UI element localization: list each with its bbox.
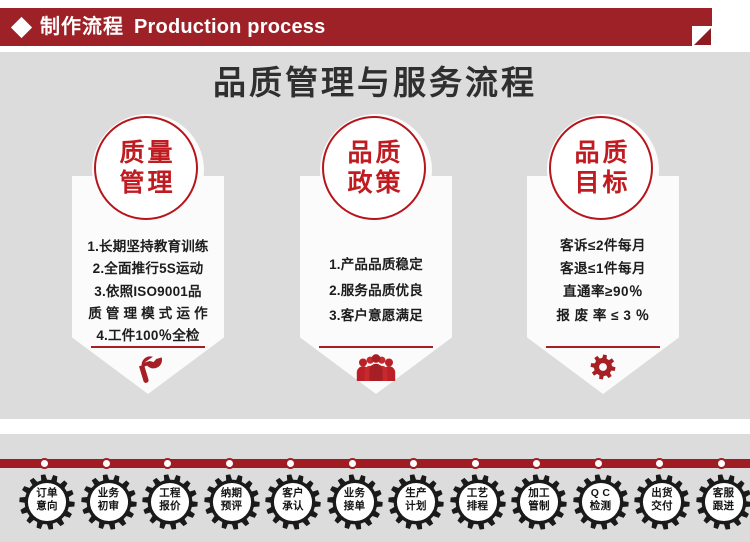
flow-node-label-line-2: 接单	[324, 500, 386, 513]
flow-node-dot	[224, 458, 235, 469]
flow-node-6[interactable]: 业务接单	[324, 434, 386, 542]
flow-node-label-line-1: 客户	[262, 487, 324, 500]
flow-node-dot	[593, 458, 604, 469]
flow-node-2[interactable]: 业务初审	[78, 434, 140, 542]
card-circle-line-1: 品质	[344, 138, 403, 169]
flow-node-dot	[408, 458, 419, 469]
flow-node-label: 出货交付	[631, 487, 693, 514]
main-content-panel: 品质管理与服务流程 质量管理1.长期坚持教育训练2.全面推行5S运动3.依照IS…	[0, 52, 750, 419]
card-title-circle: 质量管理	[94, 116, 198, 220]
card-list-item: 客退≤1件每月	[519, 257, 687, 280]
diamond-icon	[11, 16, 32, 37]
card-list-item: 1.产品品质稳定	[292, 252, 460, 278]
flow-node-label-line-2: 检测	[570, 500, 632, 513]
gear-icon	[519, 354, 687, 388]
flow-node-dot	[716, 458, 727, 469]
flow-node-label: 工程报价	[139, 487, 201, 514]
flow-node-label-line-2: 排程	[447, 500, 509, 513]
quality-card-2: 品质目标客诉≤2件每月客退≤1件每月直通率≥90％报 废 率 ≤ 3 ％	[519, 114, 687, 399]
card-item-list: 客诉≤2件每月客退≤1件每月直通率≥90％报 废 率 ≤ 3 ％	[519, 234, 687, 327]
wrench-icon-svg	[133, 354, 163, 386]
card-item-list: 1.产品品质稳定2.服务品质优良3.客户意愿满足	[292, 252, 460, 329]
flow-node-label: 订单意向	[16, 487, 78, 514]
flow-node-label-line-2: 承认	[262, 500, 324, 513]
flow-node-dot	[39, 458, 50, 469]
flow-node-3[interactable]: 工程报价	[139, 434, 201, 542]
quality-card-0: 质量管理1.长期坚持教育训练2.全面推行5S运动3.依照ISO9001品质 管 …	[64, 114, 232, 399]
flow-node-label-line-1: 工程	[139, 487, 201, 500]
card-circle-line-2: 目标	[571, 168, 630, 199]
flow-node-label-line-1: 业务	[78, 487, 140, 500]
card-item-list: 1.长期坚持教育训练2.全面推行5S运动3.依照ISO9001品质 管 理 模 …	[64, 236, 232, 347]
flow-node-label: 加工管制	[508, 487, 570, 514]
card-list-item: 4.工件100％全检	[64, 325, 232, 347]
quality-card-1: 品质政策1.产品品质稳定2.服务品质优良3.客户意愿满足	[292, 114, 460, 399]
card-circle-line-1: 品质	[571, 138, 630, 169]
flow-node-10[interactable]: Q C检测	[570, 434, 632, 542]
card-list-item: 报 废 率 ≤ 3 ％	[519, 304, 687, 327]
flow-node-label: 业务初审	[78, 487, 140, 514]
flow-node-1[interactable]: 订单意向	[16, 434, 78, 542]
header-title-cn: 制作流程	[40, 17, 124, 37]
card-circle-line-2: 政策	[344, 168, 403, 199]
page-header-banner: 制作流程 Production process	[0, 8, 712, 46]
flow-node-dot	[470, 458, 481, 469]
flow-node-dot	[347, 458, 358, 469]
flow-node-label: 客户承认	[262, 487, 324, 514]
flow-node-label: Q C检测	[570, 487, 632, 514]
card-title-circle: 品质政策	[322, 116, 426, 220]
header-fold-triangle-icon	[694, 28, 711, 45]
flow-node-label: 客服跟进	[693, 487, 750, 514]
process-flow-panel: 订单意向业务初审工程报价纳期预评客户承认业务接单生产计划工艺排程加工管制Q C检…	[0, 434, 750, 542]
card-list-item: 2.服务品质优良	[292, 278, 460, 304]
flow-node-label-line-1: 加工	[508, 487, 570, 500]
flow-node-7[interactable]: 生产计划	[385, 434, 447, 542]
flow-node-dot	[654, 458, 665, 469]
flow-node-label-line-1: 订单	[16, 487, 78, 500]
card-list-item: 直通率≥90％	[519, 280, 687, 303]
flow-node-dot	[285, 458, 296, 469]
flow-node-label-line-2: 跟进	[693, 500, 750, 513]
flow-node-label: 工艺排程	[447, 487, 509, 514]
page-title: 品质管理与服务流程	[0, 66, 750, 99]
card-list-item: 3.依照ISO9001品	[64, 281, 232, 303]
wrench-icon	[64, 354, 232, 388]
flow-node-label: 纳期预评	[201, 487, 263, 514]
flow-node-label-line-2: 管制	[508, 500, 570, 513]
flow-node-4[interactable]: 纳期预评	[201, 434, 263, 542]
flow-node-label-line-2: 预评	[201, 500, 263, 513]
card-circle-line-2: 管理	[116, 168, 175, 199]
people-group-icon	[292, 354, 460, 388]
flow-node-11[interactable]: 出货交付	[631, 434, 693, 542]
flow-node-8[interactable]: 工艺排程	[447, 434, 509, 542]
card-list-item: 3.客户意愿满足	[292, 303, 460, 329]
flow-node-label-line-1: 客服	[693, 487, 750, 500]
flow-node-label-line-2: 计划	[385, 500, 447, 513]
flow-node-label: 业务接单	[324, 487, 386, 514]
people-group-icon-svg	[356, 354, 396, 384]
flow-node-label-line-1: 生产	[385, 487, 447, 500]
flow-node-label-line-1: 工艺	[447, 487, 509, 500]
flow-node-label-line-2: 交付	[631, 500, 693, 513]
header-title-en: Production process	[134, 17, 325, 37]
flow-node-label: 生产计划	[385, 487, 447, 514]
card-list-item: 质 管 理 模 式 运 作	[64, 303, 232, 325]
card-title-circle: 品质目标	[549, 116, 653, 220]
flow-node-dot	[162, 458, 173, 469]
card-circle-line-1: 质量	[116, 138, 175, 169]
card-divider	[91, 346, 205, 348]
flow-node-dot	[101, 458, 112, 469]
flow-node-dot	[531, 458, 542, 469]
flow-node-label-line-1: Q C	[570, 487, 632, 500]
flow-node-label-line-2: 初审	[78, 500, 140, 513]
flow-node-12[interactable]: 客服跟进	[693, 434, 750, 542]
gear-icon-svg	[590, 354, 616, 380]
flow-node-label-line-1: 出货	[631, 487, 693, 500]
flow-node-label-line-1: 业务	[324, 487, 386, 500]
flow-node-5[interactable]: 客户承认	[262, 434, 324, 542]
flow-node-label-line-1: 纳期	[201, 487, 263, 500]
flow-node-9[interactable]: 加工管制	[508, 434, 570, 542]
flow-node-label-line-2: 意向	[16, 500, 78, 513]
card-divider	[546, 346, 660, 348]
card-list-item: 2.全面推行5S运动	[64, 258, 232, 280]
card-divider	[319, 346, 433, 348]
quality-cards-row: 质量管理1.长期坚持教育训练2.全面推行5S运动3.依照ISO9001品质 管 …	[0, 114, 750, 404]
card-list-item: 1.长期坚持教育训练	[64, 236, 232, 258]
flow-node-label-line-2: 报价	[139, 500, 201, 513]
card-list-item: 客诉≤2件每月	[519, 234, 687, 257]
